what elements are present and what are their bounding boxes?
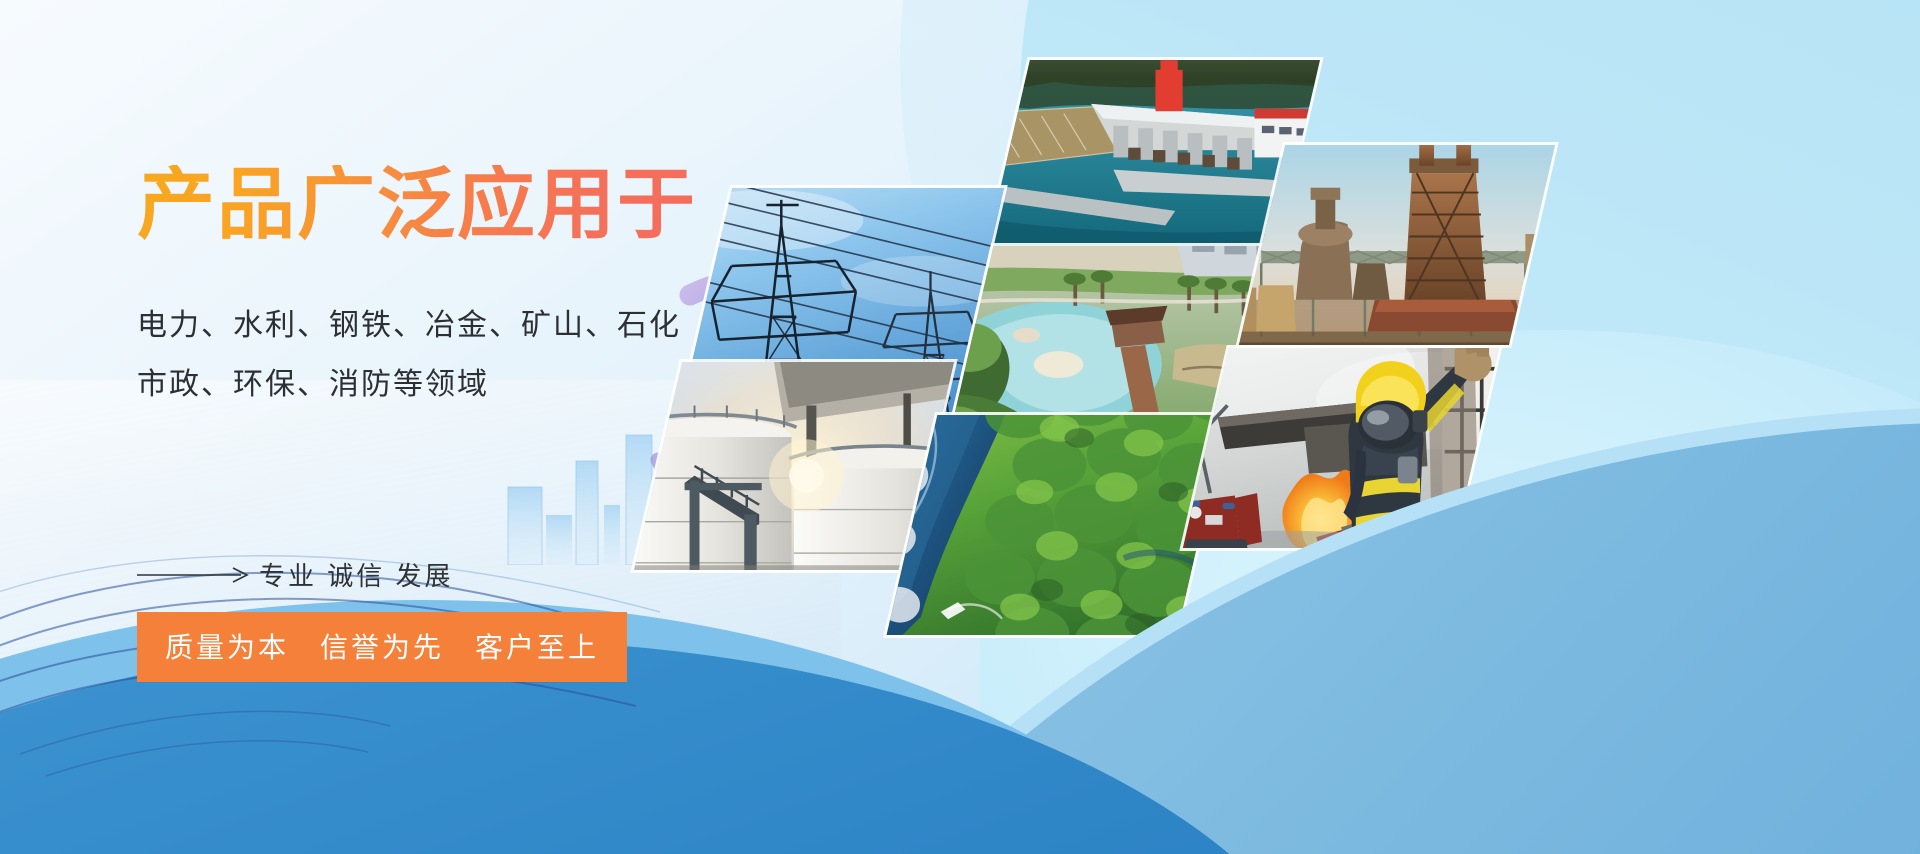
tagline-row: 专业 诚信 发展 — [137, 556, 453, 593]
long-arrow-right-icon — [137, 565, 249, 585]
slogan-badge: 质量为本 信誉为先 客户至上 — [137, 612, 627, 682]
collage-tile-steel-blast-furnace[interactable] — [1239, 145, 1555, 345]
subtitle-line-1: 电力、水利、钢铁、冶金、矿山、石化 — [137, 300, 681, 344]
banner-copy-block: 产品广泛应用于 电力、水利、钢铁、冶金、矿山、石化 市政、环保、消防等领域 专业… — [0, 0, 720, 854]
promotional-banner: 产品广泛应用于 电力、水利、钢铁、冶金、矿山、石化 市政、环保、消防等领域 专业… — [0, 0, 1920, 854]
collage-tile-river-forest-environment[interactable] — [887, 415, 1228, 635]
page-title: 产品广泛应用于 — [137, 165, 697, 243]
subtitle-line-2: 市政、环保、消防等领域 — [137, 359, 489, 403]
tagline-text: 专业 诚信 发展 — [259, 556, 453, 593]
